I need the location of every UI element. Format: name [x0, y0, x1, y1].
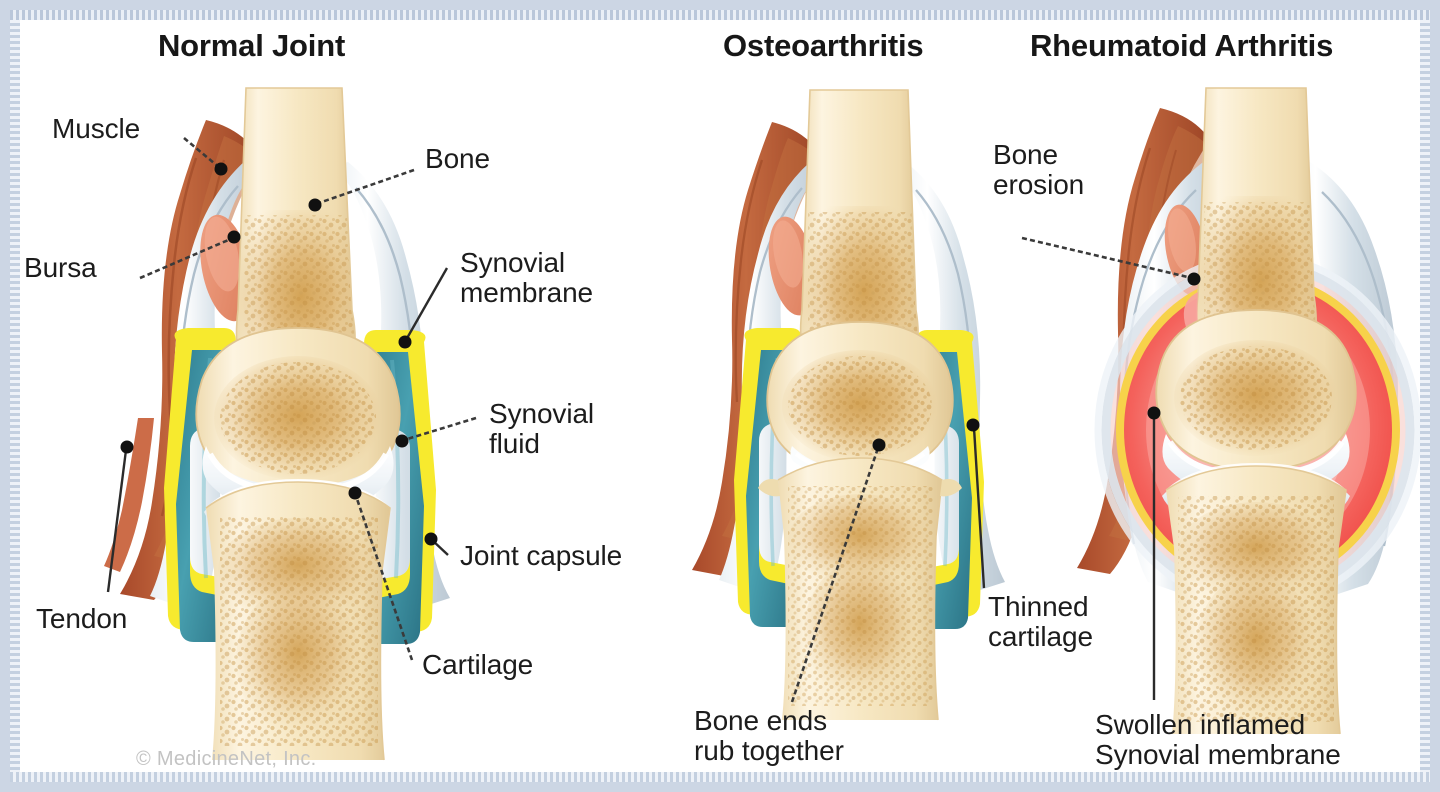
copyright-credit: © MedicineNet, Inc. — [136, 748, 317, 771]
label-synovial-fluid: Synovial fluid — [489, 399, 594, 459]
joint-anatomy-artwork — [10, 10, 1440, 792]
label-cartilage: Cartilage — [422, 650, 533, 680]
label-bursa: Bursa — [24, 253, 97, 283]
femoral-condyle — [196, 328, 400, 494]
ra-femoral-condyle — [1156, 310, 1356, 470]
ra-lower-bone — [1166, 466, 1346, 734]
label-synovial-membrane: Synovial membrane — [460, 248, 593, 308]
label-muscle: Muscle — [52, 114, 140, 144]
normal-joint-illustration — [104, 88, 450, 760]
rheumatoid-arthritis-illustration — [1077, 88, 1418, 734]
label-bone: Bone — [425, 144, 490, 174]
label-thinned-cartilage: Thinned cartilage — [988, 592, 1093, 652]
osteoarthritis-illustration — [692, 90, 1005, 720]
panel-title-normal-joint: Normal Joint — [158, 28, 345, 64]
lower-bone — [206, 482, 390, 760]
label-tendon: Tendon — [36, 604, 127, 634]
panel-title-osteoarthritis: Osteoarthritis — [723, 28, 923, 64]
figure-root: Normal Joint Osteoarthritis Rheumatoid A… — [0, 0, 1440, 792]
label-joint-capsule: Joint capsule — [460, 541, 622, 571]
label-swollen-inflamed-synovial-membrane: Swollen inflamed Synovial membrane — [1095, 710, 1341, 770]
panel-title-rheumatoid-arthritis: Rheumatoid Arthritis — [1030, 28, 1333, 64]
label-bone-ends-rub-together: Bone ends rub together — [694, 706, 844, 766]
label-bone-erosion: Bone erosion — [993, 140, 1084, 200]
illustration-canvas: Normal Joint Osteoarthritis Rheumatoid A… — [10, 10, 1430, 782]
